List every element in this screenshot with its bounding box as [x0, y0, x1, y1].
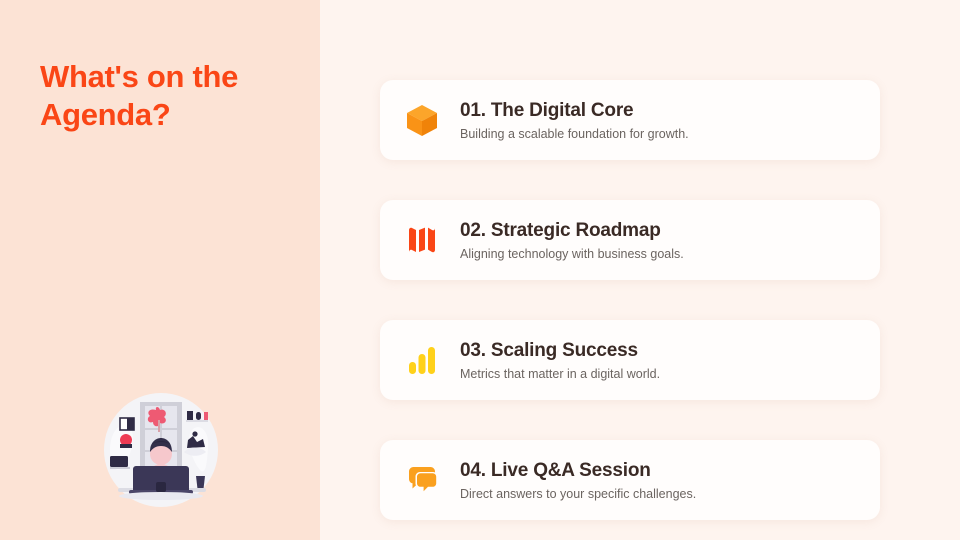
left-panel: What's on the Agenda? [0, 0, 320, 540]
agenda-item-heading: 01. The Digital Core [460, 99, 689, 123]
agenda-list: 01. The Digital Core Building a scalable… [380, 80, 880, 520]
agenda-item-subtitle: Direct answers to your specific challeng… [460, 486, 696, 502]
agenda-item-text: 04. Live Q&A Session Direct answers to y… [460, 459, 696, 502]
bar-chart-icon [402, 340, 442, 380]
person-working-at-desk-illustration [96, 384, 226, 514]
map-icon [402, 220, 442, 260]
agenda-item-subtitle: Metrics that matter in a digital world. [460, 366, 660, 382]
cube-icon [402, 100, 442, 140]
agenda-item-02[interactable]: 02. Strategic Roadmap Aligning technolog… [380, 200, 880, 280]
slide-root: What's on the Agenda? [0, 0, 960, 540]
agenda-item-heading: 02. Strategic Roadmap [460, 219, 684, 243]
agenda-item-text: 02. Strategic Roadmap Aligning technolog… [460, 219, 684, 262]
agenda-item-01[interactable]: 01. The Digital Core Building a scalable… [380, 80, 880, 160]
chat-bubbles-icon [402, 460, 442, 500]
agenda-item-03[interactable]: 03. Scaling Success Metrics that matter … [380, 320, 880, 400]
agenda-item-heading: 03. Scaling Success [460, 339, 660, 363]
agenda-item-text: 01. The Digital Core Building a scalable… [460, 99, 689, 142]
agenda-item-heading: 04. Live Q&A Session [460, 459, 696, 483]
page-title: What's on the Agenda? [40, 58, 298, 134]
agenda-item-text: 03. Scaling Success Metrics that matter … [460, 339, 660, 382]
agenda-item-subtitle: Aligning technology with business goals. [460, 246, 684, 262]
agenda-item-04[interactable]: 04. Live Q&A Session Direct answers to y… [380, 440, 880, 520]
agenda-item-subtitle: Building a scalable foundation for growt… [460, 126, 689, 142]
